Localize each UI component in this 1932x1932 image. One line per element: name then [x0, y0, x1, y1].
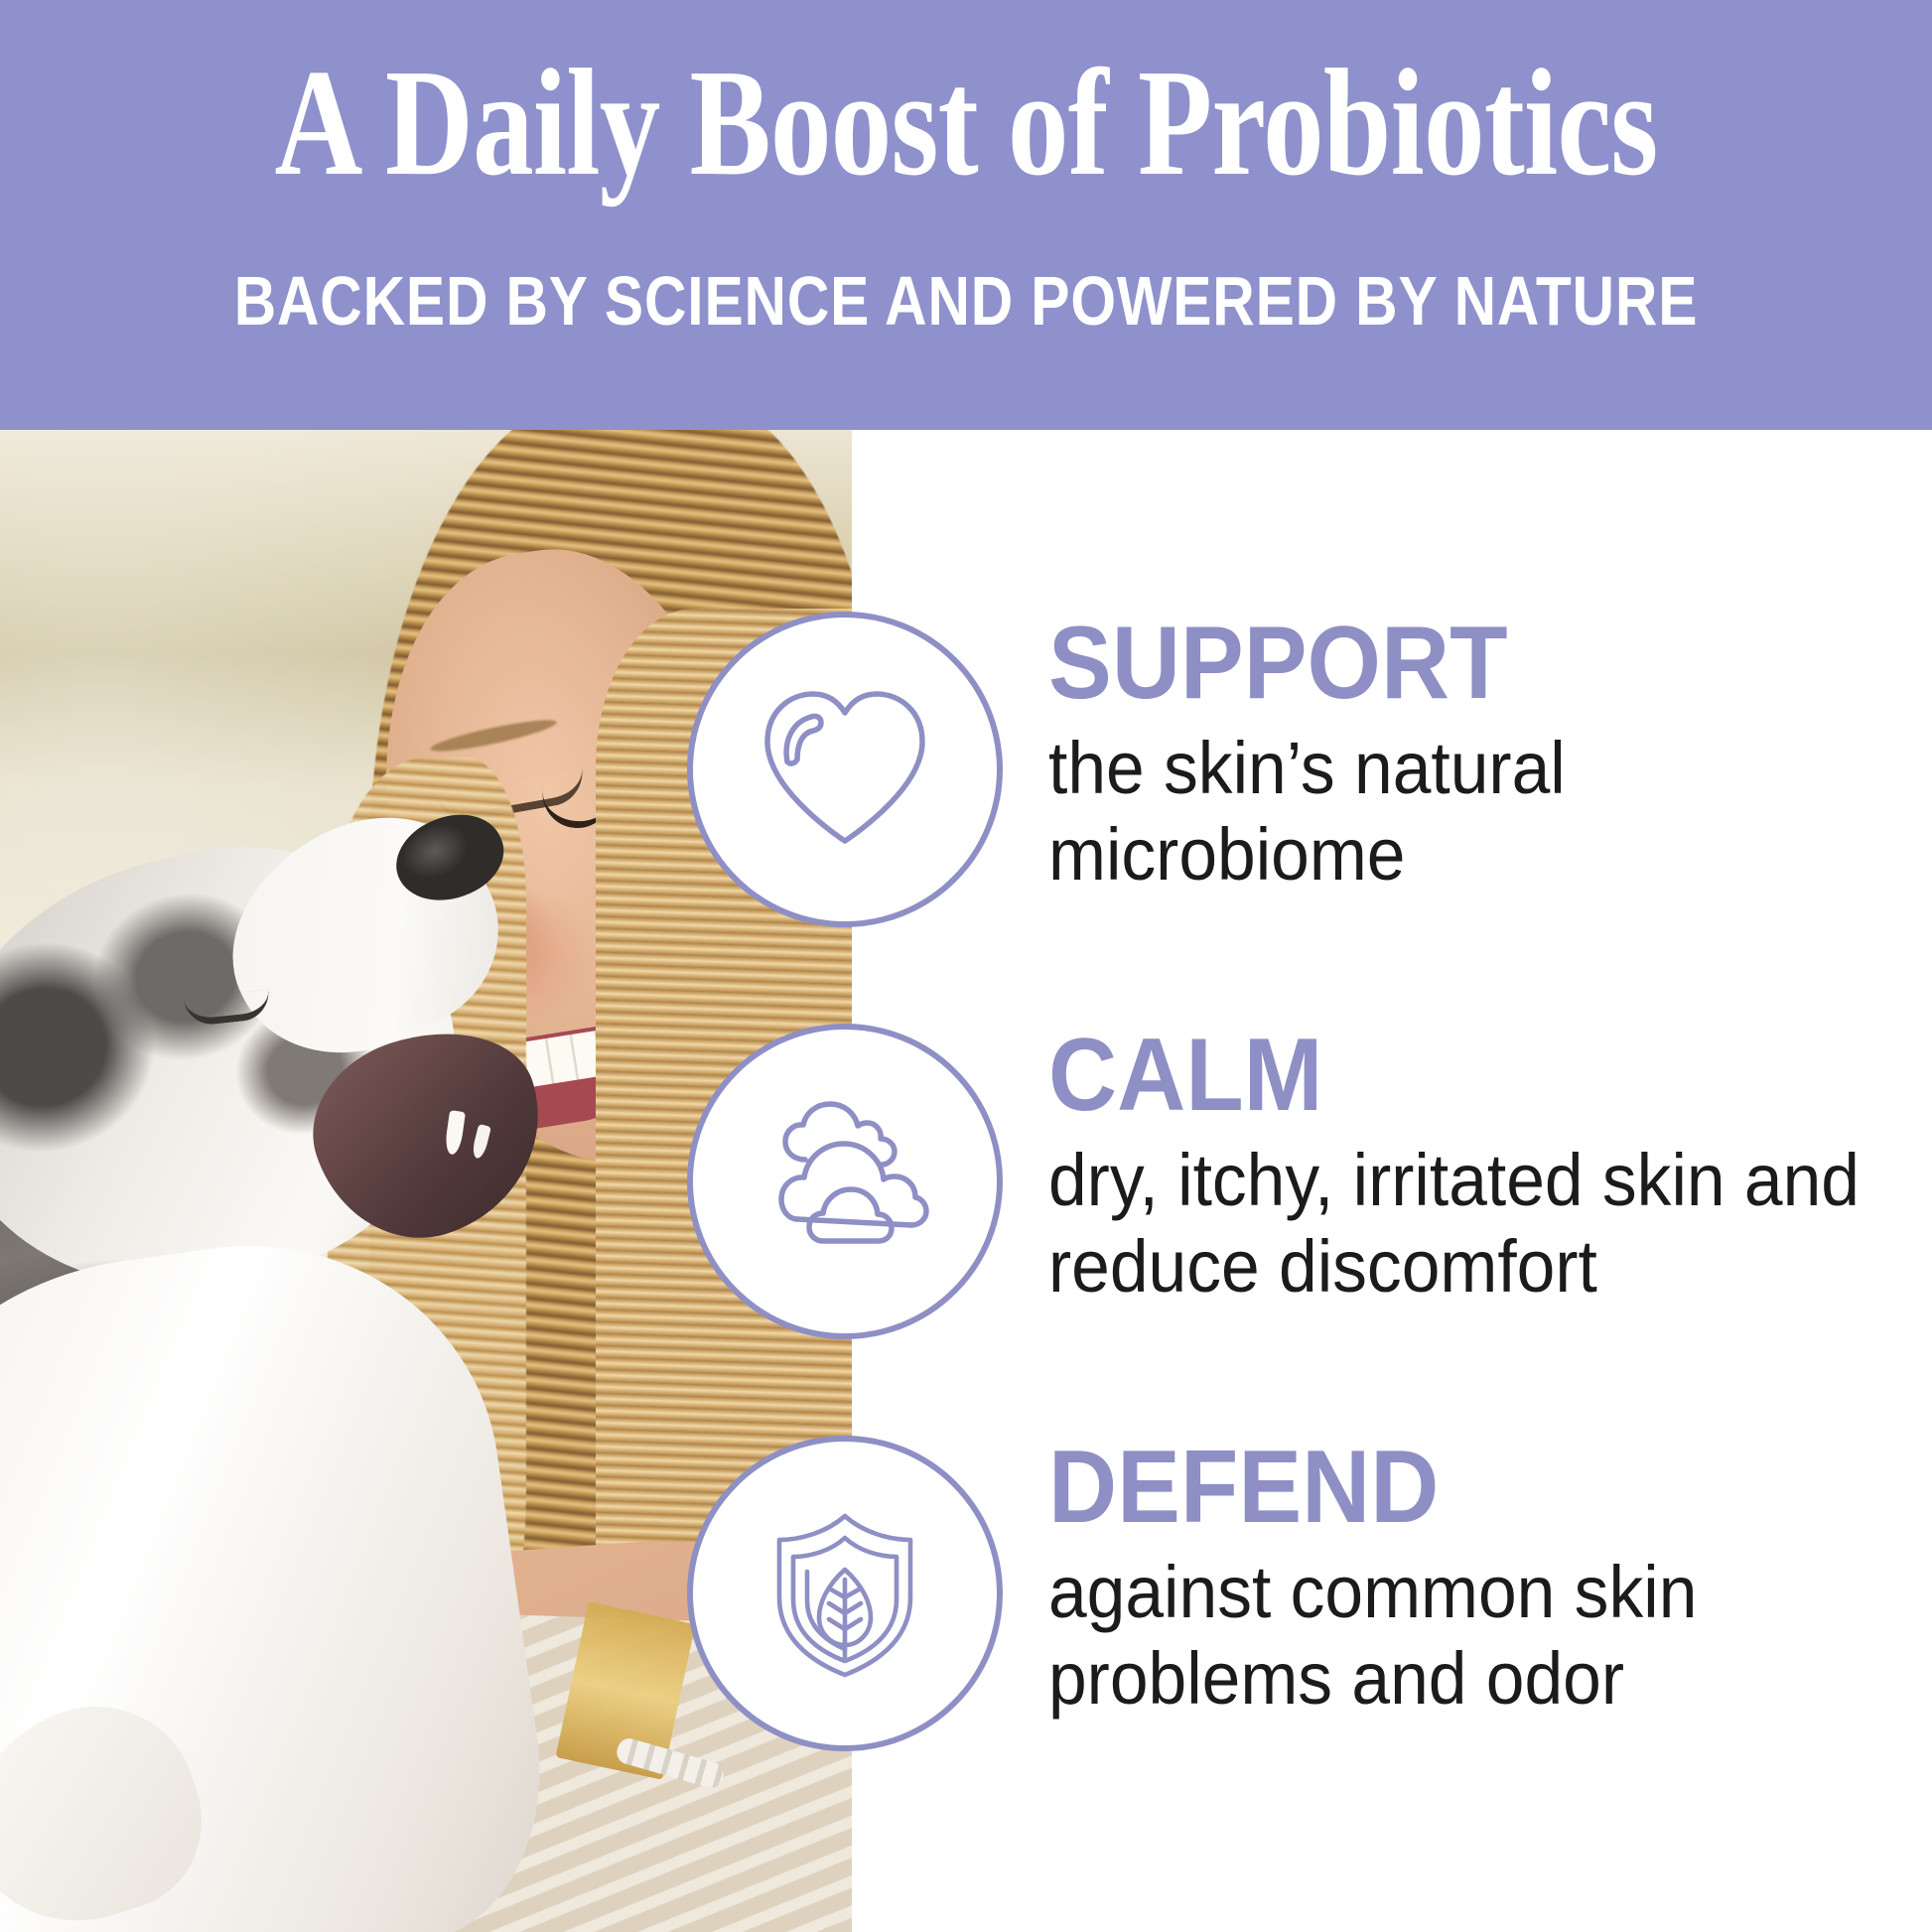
benefit-heading: CALM: [1048, 1024, 1853, 1127]
benefit-body: dry, itchy, irritated skin and reduce di…: [1048, 1137, 1869, 1311]
clouds-icon: [687, 1024, 1003, 1339]
infographic-canvas: A Daily Boost of Probiotics BACKED BY SC…: [0, 0, 1932, 1932]
benefit-text-support: SUPPORT the skin’s natural microbiome: [1048, 612, 1922, 898]
benefit-body: against common skin problems and odor: [1048, 1549, 1869, 1723]
heart-icon: [687, 612, 1003, 927]
shield-leaf-icon: [687, 1436, 1003, 1751]
benefit-heading: SUPPORT: [1048, 612, 1853, 715]
benefit-text-calm: CALM dry, itchy, irritated skin and redu…: [1048, 1024, 1922, 1311]
page-subtitle: BACKED BY SCIENCE AND POWERED BY NATURE: [155, 266, 1778, 336]
page-title: A Daily Boost of Probiotics: [194, 44, 1739, 203]
benefit-text-defend: DEFEND against common skin problems and …: [1048, 1436, 1922, 1723]
header-banner: A Daily Boost of Probiotics BACKED BY SC…: [0, 0, 1932, 430]
benefit-body: the skin’s natural microbiome: [1048, 725, 1869, 898]
benefit-heading: DEFEND: [1048, 1436, 1853, 1539]
